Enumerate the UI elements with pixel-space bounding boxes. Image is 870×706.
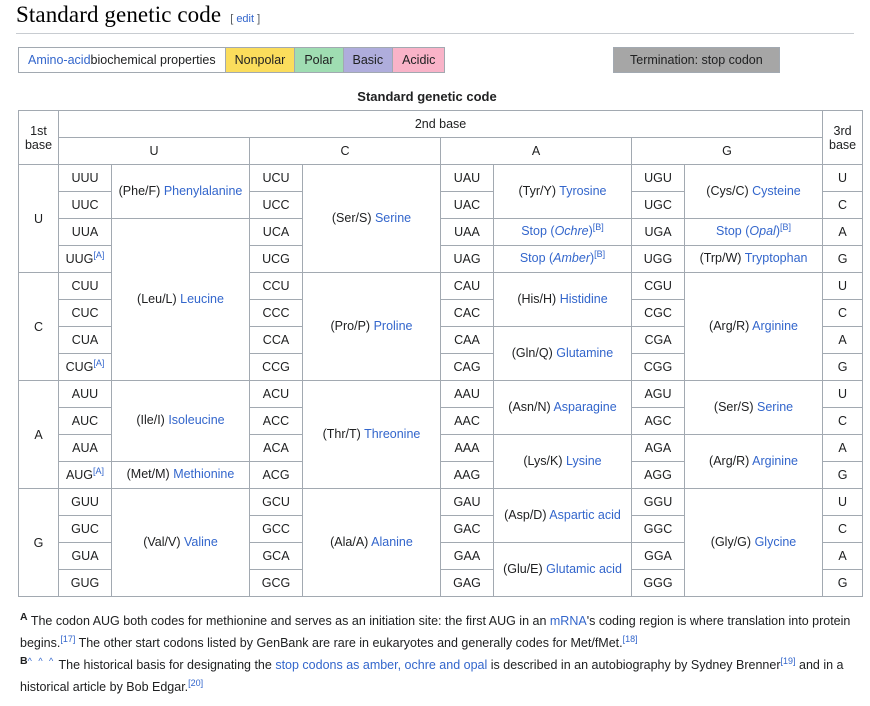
first-base-A: A <box>19 381 59 489</box>
edit-section-link-wrapper: [ edit ] <box>230 13 260 25</box>
reference-18[interactable]: [18] <box>623 633 638 643</box>
third-base-C: C <box>823 300 863 327</box>
table-row: A AUU (Ile/I) Isoleucine ACU (Thr/T) Thr… <box>19 381 863 408</box>
aa-abbr: (Ser/S) <box>714 400 754 414</box>
codon-GAC: GAC <box>441 516 494 543</box>
aa-glutamine: (Gln/Q) Glutamine <box>494 327 632 381</box>
codon-GGA: GGA <box>632 543 685 570</box>
stop-name: Ochre <box>555 224 589 238</box>
stop-word: Stop <box>521 224 547 238</box>
codon-GGC: GGC <box>632 516 685 543</box>
codon-UUG: UUG[A] <box>59 246 112 273</box>
codon-CCC: CCC <box>250 300 303 327</box>
codon-AGC: AGC <box>632 408 685 435</box>
aa-abbr: (Tyr/Y) <box>519 184 557 198</box>
aa-name: Threonine <box>364 427 420 441</box>
aa-abbr: (Arg/R) <box>709 454 749 468</box>
third-base-C: C <box>823 192 863 219</box>
legend-swatch-basic: Basic <box>344 48 394 72</box>
section-heading: Standard genetic code [ edit ] <box>16 0 854 28</box>
codon-GUU: GUU <box>59 489 112 516</box>
codon-ACA: ACA <box>250 435 303 462</box>
codon-UAU: UAU <box>441 165 494 192</box>
codon-AUU: AUU <box>59 381 112 408</box>
header-first-base: 1st base <box>19 111 59 165</box>
aa-name: Glutamic acid <box>546 562 622 576</box>
codon-GCA: GCA <box>250 543 303 570</box>
aa-proline: (Pro/P) Proline <box>303 273 441 381</box>
aa-abbr: (His/H) <box>517 292 556 306</box>
codon-GGU: GGU <box>632 489 685 516</box>
heading-divider <box>16 33 854 34</box>
codon-ACG: ACG <box>250 462 303 489</box>
legend-swatch-nonpolar: Nonpolar <box>226 48 296 72</box>
footnote-b-text-2: is described in an autobiography by Sydn… <box>487 658 780 672</box>
third-base-C: C <box>823 408 863 435</box>
aa-name: Glutamine <box>556 346 613 360</box>
third-base-A: A <box>823 435 863 462</box>
aa-abbr: (Asp/D) <box>504 508 546 522</box>
codon-CGG: CGG <box>632 354 685 381</box>
codon-UGC: UGC <box>632 192 685 219</box>
first-base-C: C <box>19 273 59 381</box>
codon-ACC: ACC <box>250 408 303 435</box>
aa-name: Aspartic acid <box>549 508 621 522</box>
codon-UCG: UCG <box>250 246 303 273</box>
footnote-ref-B[interactable]: [B] <box>780 222 791 232</box>
header-third-base-line2: base <box>823 138 862 152</box>
aa-name: Isoleucine <box>168 413 224 427</box>
aa-name: Histidine <box>560 292 608 306</box>
codon-AGA: AGA <box>632 435 685 462</box>
codon-AUG: AUG[A] <box>59 462 112 489</box>
aa-name: Alanine <box>371 535 413 549</box>
aa-abbr: (Lys/K) <box>523 454 562 468</box>
legend-title-cell: Amino-acid biochemical properties <box>19 48 226 72</box>
third-base-U: U <box>823 489 863 516</box>
aa-abbr: (Gly/G) <box>711 535 751 549</box>
first-base-G: G <box>19 489 59 597</box>
aa-name: Glycine <box>755 535 797 549</box>
aa-name: Methionine <box>173 467 234 481</box>
codon-CGA: CGA <box>632 327 685 354</box>
codon-CGC: CGC <box>632 300 685 327</box>
legend-termination: Termination: stop codon <box>613 47 780 73</box>
aa-phenylalanine: (Phe/F) Phenylalanine <box>112 165 250 219</box>
codon-GUA: GUA <box>59 543 112 570</box>
codon-UGG: UGG <box>632 246 685 273</box>
codon-UAG: UAG <box>441 246 494 273</box>
aa-asparagine: (Asn/N) Asparagine <box>494 381 632 435</box>
first-base-U: U <box>19 165 59 273</box>
aa-histidine: (His/H) Histidine <box>494 273 632 327</box>
stop-word: Stop <box>520 251 546 265</box>
header-col-U: U <box>59 138 250 165</box>
third-base-G: G <box>823 354 863 381</box>
codon-GCU: GCU <box>250 489 303 516</box>
stop-codons-link[interactable]: stop codons as amber, ochre and opal <box>275 658 487 672</box>
codon-UUU: UUU <box>59 165 112 192</box>
codon-ACU: ACU <box>250 381 303 408</box>
footnote-b-marker: B <box>20 655 28 667</box>
legend-swatch-polar: Polar <box>295 48 343 72</box>
stop-amber: Stop (Amber)[B] <box>494 246 632 273</box>
aa-name: Arginine <box>752 454 798 468</box>
codon-CCU: CCU <box>250 273 303 300</box>
footnote-b: B^ ^ ^ The historical basis for designat… <box>20 655 858 698</box>
genetic-code-table: 1st base 2nd base 3rd base U C A G U UUU <box>18 110 863 597</box>
footnotes: A The codon AUG both codes for methionin… <box>20 611 858 698</box>
codon-text: UUG <box>66 252 94 266</box>
aa-abbr: (Ser/S) <box>332 211 372 225</box>
third-base-A: A <box>823 327 863 354</box>
codon-text: CUG <box>66 360 94 374</box>
legend-area: Amino-acid biochemical properties Nonpol… <box>16 47 854 79</box>
codon-GGG: GGG <box>632 570 685 597</box>
codon-UGA: UGA <box>632 219 685 246</box>
codon-CUU: CUU <box>59 273 112 300</box>
stop-paren-open: ( <box>547 224 555 238</box>
aa-abbr: (Met/M) <box>127 467 170 481</box>
codon-CCA: CCA <box>250 327 303 354</box>
aa-cysteine: (Cys/C) Cysteine <box>685 165 823 219</box>
stop-ochre: Stop (Ochre)[B] <box>494 219 632 246</box>
footnote-ref-A[interactable]: [A] <box>93 250 104 260</box>
header-third-base: 3rd base <box>823 111 863 165</box>
aa-name: Cysteine <box>752 184 801 198</box>
codon-AAC: AAC <box>441 408 494 435</box>
aa-glycine: (Gly/G) Glycine <box>685 489 823 597</box>
aa-name: Valine <box>184 535 218 549</box>
codon-AUC: AUC <box>59 408 112 435</box>
third-base-G: G <box>823 570 863 597</box>
header-first-base-line2: base <box>19 138 58 152</box>
codon-CAG: CAG <box>441 354 494 381</box>
aa-abbr: (Val/V) <box>143 535 180 549</box>
header-third-base-line1: 3rd <box>823 124 862 138</box>
aa-abbr: (Ile/I) <box>136 413 164 427</box>
aa-leucine: (Leu/L) Leucine <box>112 219 250 381</box>
aa-glutamic-acid: (Glu/E) Glutamic acid <box>494 543 632 597</box>
edit-bracket-open: [ <box>230 13 233 25</box>
aa-abbr: (Asn/N) <box>508 400 550 414</box>
third-base-U: U <box>823 273 863 300</box>
header-col-A: A <box>441 138 632 165</box>
aa-abbr: (Cys/C) <box>706 184 748 198</box>
aa-name: Leucine <box>180 292 224 306</box>
footnote-ref-B[interactable]: [B] <box>593 222 604 232</box>
footnote-b-backlinks[interactable]: ^ ^ ^ <box>28 656 56 666</box>
codon-CUG: CUG[A] <box>59 354 112 381</box>
codon-GAU: GAU <box>441 489 494 516</box>
aa-abbr: (Thr/T) <box>323 427 361 441</box>
codon-CUA: CUA <box>59 327 112 354</box>
codon-UCU: UCU <box>250 165 303 192</box>
footnote-ref-A[interactable]: [A] <box>93 466 104 476</box>
codon-GUC: GUC <box>59 516 112 543</box>
amino-acid-link[interactable]: Amino-acid <box>28 53 91 67</box>
table-header-row-2: U C A G <box>19 138 863 165</box>
codon-GCG: GCG <box>250 570 303 597</box>
codon-UCA: UCA <box>250 219 303 246</box>
aa-serine-U: (Ser/S) Serine <box>303 165 441 273</box>
codon-AAA: AAA <box>441 435 494 462</box>
third-base-G: G <box>823 462 863 489</box>
codon-UAA: UAA <box>441 219 494 246</box>
aa-abbr: (Ala/A) <box>330 535 368 549</box>
reference-17[interactable]: [17] <box>60 633 75 643</box>
aa-abbr: (Glu/E) <box>503 562 543 576</box>
aa-name: Proline <box>374 319 413 333</box>
codon-CAC: CAC <box>441 300 494 327</box>
footnote-a-text-3: The other start codons listed by GenBank… <box>75 636 622 650</box>
footnote-ref-A[interactable]: [A] <box>93 358 104 368</box>
legend-swatch-acidic: Acidic <box>393 48 444 72</box>
aa-name: Asparagine <box>553 400 616 414</box>
mrna-link[interactable]: mRNA <box>550 614 587 628</box>
aa-arginine-C: (Arg/R) Arginine <box>685 273 823 381</box>
codon-AGG: AGG <box>632 462 685 489</box>
table-row: UUA (Leu/L) Leucine UCA UAA Stop (Ochre)… <box>19 219 863 246</box>
third-base-U: U <box>823 165 863 192</box>
aa-abbr: (Phe/F) <box>119 184 161 198</box>
aa-name: Serine <box>375 211 411 225</box>
codon-CGU: CGU <box>632 273 685 300</box>
aa-name: Lysine <box>566 454 602 468</box>
codon-CUC: CUC <box>59 300 112 327</box>
codon-GCC: GCC <box>250 516 303 543</box>
table-row: G GUU (Val/V) Valine GCU (Ala/A) Alanine… <box>19 489 863 516</box>
third-base-A: A <box>823 543 863 570</box>
aa-serine-A: (Ser/S) Serine <box>685 381 823 435</box>
aa-arginine-A: (Arg/R) Arginine <box>685 435 823 489</box>
aa-abbr: (Leu/L) <box>137 292 177 306</box>
edit-bracket-close: ] <box>257 13 260 25</box>
header-first-base-line1: 1st <box>19 124 58 138</box>
third-base-G: G <box>823 246 863 273</box>
codon-CAA: CAA <box>441 327 494 354</box>
footnote-a-marker: A <box>20 611 28 623</box>
codon-AGU: AGU <box>632 381 685 408</box>
codon-UUC: UUC <box>59 192 112 219</box>
edit-section-link[interactable]: edit <box>236 13 254 25</box>
aa-name: Tyrosine <box>559 184 606 198</box>
codon-GAA: GAA <box>441 543 494 570</box>
header-col-C: C <box>250 138 441 165</box>
codon-text: AUG <box>66 468 93 482</box>
table-caption: Standard genetic code <box>16 89 838 104</box>
reference-19[interactable]: [19] <box>781 656 796 666</box>
codon-UUA: UUA <box>59 219 112 246</box>
third-base-C: C <box>823 516 863 543</box>
third-base-U: U <box>823 381 863 408</box>
codon-AAG: AAG <box>441 462 494 489</box>
stop-opal: Stop (Opal)[B] <box>685 219 823 246</box>
footnote-a-text-1: The codon AUG both codes for methionine … <box>28 614 550 628</box>
aa-methionine: (Met/M) Methionine <box>112 462 250 489</box>
aa-abbr: (Trp/W) <box>700 251 742 265</box>
footnote-b-text-1: The historical basis for designating the <box>55 658 275 672</box>
codon-AAU: AAU <box>441 381 494 408</box>
aa-name: Serine <box>757 400 793 414</box>
codon-AUA: AUA <box>59 435 112 462</box>
aa-valine: (Val/V) Valine <box>112 489 250 597</box>
aa-abbr: (Arg/R) <box>709 319 749 333</box>
stop-word: Stop <box>716 224 742 238</box>
table-row: U UUU (Phe/F) Phenylalanine UCU (Ser/S) … <box>19 165 863 192</box>
aa-tyrosine: (Tyr/Y) Tyrosine <box>494 165 632 219</box>
aa-alanine: (Ala/A) Alanine <box>303 489 441 597</box>
aminoacid-property-legend: Amino-acid biochemical properties Nonpol… <box>18 47 445 73</box>
stop-name: Opal <box>749 224 775 238</box>
third-base-A: A <box>823 219 863 246</box>
footnote-ref-B[interactable]: [B] <box>594 249 605 259</box>
header-col-G: G <box>632 138 823 165</box>
reference-20[interactable]: [20] <box>188 677 203 687</box>
codon-UCC: UCC <box>250 192 303 219</box>
codon-CCG: CCG <box>250 354 303 381</box>
aa-threonine: (Thr/T) Threonine <box>303 381 441 489</box>
aa-isoleucine: (Ile/I) Isoleucine <box>112 381 250 462</box>
legend-title-rest: biochemical properties <box>91 53 216 67</box>
article-section: Standard genetic code [ edit ] Amino-aci… <box>0 0 870 698</box>
codon-GUG: GUG <box>59 570 112 597</box>
codon-CAU: CAU <box>441 273 494 300</box>
aa-tryptophan: (Trp/W) Tryptophan <box>685 246 823 273</box>
page-title: Standard genetic code <box>16 2 221 28</box>
table-header-row-1: 1st base 2nd base 3rd base <box>19 111 863 138</box>
aa-aspartic-acid: (Asp/D) Aspartic acid <box>494 489 632 543</box>
stop-name: Amber <box>553 251 590 265</box>
aa-abbr: (Gln/Q) <box>512 346 553 360</box>
codon-UGU: UGU <box>632 165 685 192</box>
header-second-base: 2nd base <box>59 111 823 138</box>
codon-UAC: UAC <box>441 192 494 219</box>
aa-abbr: (Pro/P) <box>331 319 371 333</box>
footnote-a: A The codon AUG both codes for methionin… <box>20 611 858 654</box>
aa-name: Phenylalanine <box>164 184 243 198</box>
aa-name: Tryptophan <box>745 251 808 265</box>
codon-GAG: GAG <box>441 570 494 597</box>
aa-name: Arginine <box>752 319 798 333</box>
aa-lysine: (Lys/K) Lysine <box>494 435 632 489</box>
